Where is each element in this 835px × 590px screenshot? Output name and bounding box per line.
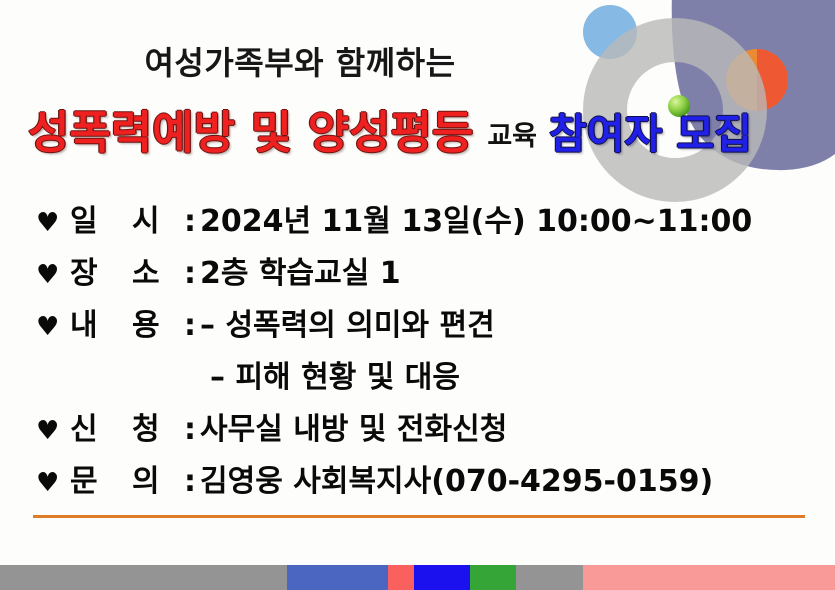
info-value-content-line1: – 성폭력의 의미와 편견	[200, 300, 495, 344]
footer-segment-red	[388, 565, 414, 590]
poster-subtitle: 여성가족부와 함께하는	[0, 38, 600, 84]
heart-bullet-icon: ♥	[36, 314, 70, 340]
info-value-location: 2층 학습교실 1	[200, 248, 401, 292]
footer-segment-blue-slate	[287, 565, 388, 590]
headline-middle-text: 교육	[487, 114, 537, 153]
info-value-datetime: 2024년 11월 13일(수) 10:00~11:00	[200, 196, 752, 240]
footer-color-bar	[0, 565, 835, 590]
heart-bullet-icon: ♥	[36, 470, 70, 496]
info-row-contact: ♥ 문 의 : 김영웅 사회복지사(070-4295-0159)	[36, 456, 816, 508]
footer-segment-green	[470, 565, 516, 590]
heart-bullet-icon: ♥	[36, 210, 70, 236]
info-label-location: 장 소	[70, 248, 194, 292]
info-row-datetime: ♥ 일 시 : 2024년 11월 13일(수) 10:00~11:00	[36, 196, 816, 248]
info-label-contact: 문 의	[70, 456, 194, 500]
info-value-application: 사무실 내방 및 전화신청	[200, 404, 507, 448]
info-colon-application: :	[184, 412, 200, 447]
info-label-datetime: 일 시	[70, 196, 194, 240]
info-row-content: ♥ 내 용 : – 성폭력의 의미와 편견	[36, 300, 816, 352]
headline-accent-text: 참여자 모집	[549, 100, 752, 160]
info-row-location: ♥ 장 소 : 2층 학습교실 1	[36, 248, 816, 300]
info-colon-contact: :	[184, 464, 200, 499]
footer-segment-gray-left	[0, 565, 287, 590]
info-row-application: ♥ 신 청 : 사무실 내방 및 전화신청	[36, 404, 816, 456]
heart-bullet-icon: ♥	[36, 262, 70, 288]
info-colon-content: :	[184, 308, 200, 343]
info-value-contact: 김영웅 사회복지사(070-4295-0159)	[200, 456, 713, 500]
heart-bullet-icon: ♥	[36, 418, 70, 444]
poster-headline: 성폭력예방 및 양성평등 교육 참여자 모집	[28, 96, 752, 161]
info-row-content-secondary: – 피해 현황 및 대응	[36, 352, 816, 404]
poster-canvas: 여성가족부와 함께하는 성폭력예방 및 양성평등 교육 참여자 모집 ♥ 일 시…	[0, 0, 835, 590]
red-circle-half	[757, 49, 788, 111]
info-list: ♥ 일 시 : 2024년 11월 13일(수) 10:00~11:00 ♥ 장…	[36, 196, 816, 508]
info-label-content: 내 용	[70, 300, 194, 344]
info-colon-datetime: :	[184, 204, 200, 239]
footer-segment-gray-right	[516, 565, 583, 590]
info-colon-location: :	[184, 256, 200, 291]
info-label-application: 신 청	[70, 404, 194, 448]
info-value-content-line2: – 피해 현황 및 대응	[210, 352, 460, 396]
footer-segment-pink	[583, 565, 835, 590]
footer-segment-blue	[414, 565, 470, 590]
headline-main-text: 성폭력예방 및 양성평등	[28, 96, 473, 161]
orange-divider-rule	[33, 515, 805, 518]
